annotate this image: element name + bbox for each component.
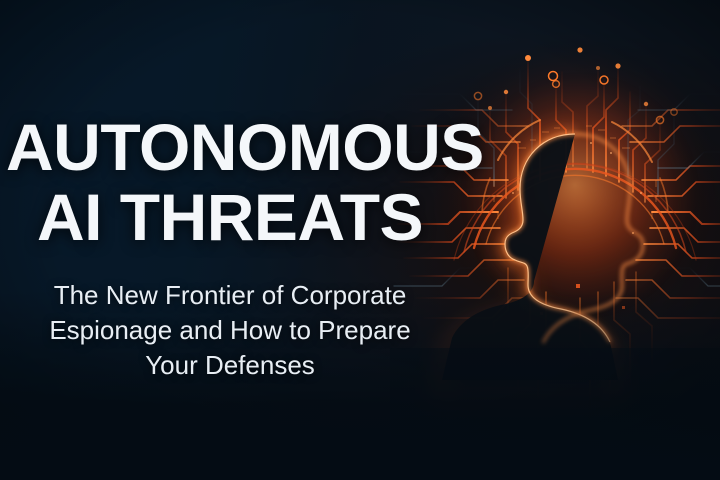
headline-block: AUTONOMOUS AI THREATS The New Frontier o… bbox=[0, 0, 460, 383]
page-subtitle: The New Frontier of Corporate Espionage … bbox=[0, 252, 460, 383]
subtitle-line-2: Espionage and How to Prepare bbox=[0, 313, 460, 348]
subtitle-line-3: Your Defenses bbox=[0, 348, 460, 383]
page-title: AUTONOMOUS AI THREATS bbox=[0, 0, 460, 252]
subtitle-line-1: The New Frontier of Corporate bbox=[0, 278, 460, 313]
title-line-1: AUTONOMOUS bbox=[0, 112, 460, 182]
title-line-2: AI THREATS bbox=[0, 182, 460, 252]
presentation-slide: AUTONOMOUS AI THREATS The New Frontier o… bbox=[0, 0, 720, 480]
